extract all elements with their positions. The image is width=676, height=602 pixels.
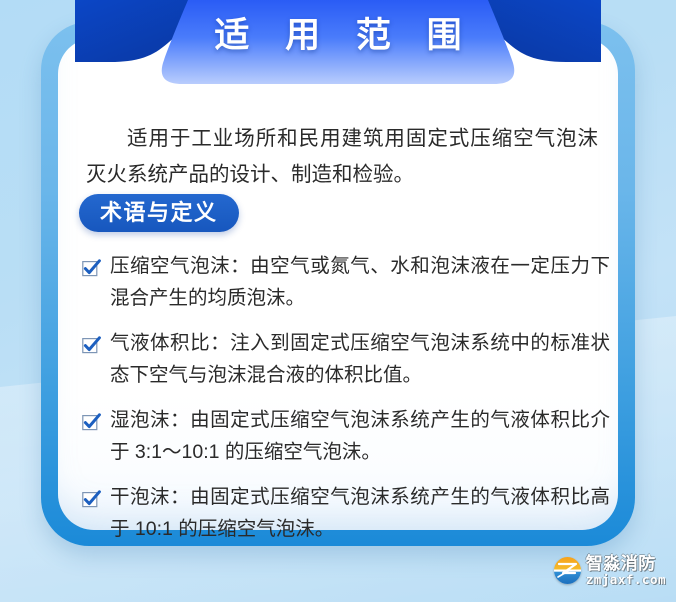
section-badge-terms: 术语与定义 xyxy=(79,194,239,232)
list-item: 湿泡沫：由固定式压缩空气泡沫系统产生的气液体积比介于 3:1～10:1 的压缩空… xyxy=(82,404,610,468)
definition-text: 湿泡沫：由固定式压缩空气泡沫系统产生的气液体积比介于 3:1～10:1 的压缩空… xyxy=(110,404,610,468)
zm-circle-logo-icon xyxy=(554,557,581,584)
checkbox-checked-icon xyxy=(82,256,101,275)
list-item: 气液体积比：注入到固定式压缩空气泡沫系统中的标准状态下空气与泡沫混合液的体积比值… xyxy=(82,327,610,391)
watermark-text: 智淼消防 zmjaxf.com xyxy=(586,555,666,587)
checkbox-checked-icon xyxy=(82,410,101,429)
watermark: 智淼消防 zmjaxf.com xyxy=(554,555,666,587)
definition-text: 干泡沫：由固定式压缩空气泡沫系统产生的气液体积比高于 10:1 的压缩空气泡沫。 xyxy=(110,481,610,545)
watermark-brand: 智淼消防 xyxy=(586,555,666,572)
checkbox-checked-icon xyxy=(82,487,101,506)
definition-text: 气液体积比：注入到固定式压缩空气泡沫系统中的标准状态下空气与泡沫混合液的体积比值… xyxy=(110,327,610,391)
checkbox-checked-icon xyxy=(82,333,101,352)
list-item: 干泡沫：由固定式压缩空气泡沫系统产生的气液体积比高于 10:1 的压缩空气泡沫。 xyxy=(82,481,610,545)
definition-list: 压缩空气泡沫：由空气或氮气、水和泡沫液在一定压力下混合产生的均质泡沫。 气液体积… xyxy=(82,250,610,558)
poster-page: 适 用 范 围 适用于工业场所和民用建筑用固定式压缩空气泡沫灭火系统产品的设计、… xyxy=(0,0,676,602)
watermark-url: zmjaxf.com xyxy=(586,574,666,587)
intro-paragraph: 适用于工业场所和民用建筑用固定式压缩空气泡沫灭火系统产品的设计、制造和检验。 xyxy=(86,121,598,193)
list-item: 压缩空气泡沫：由空气或氮气、水和泡沫液在一定压力下混合产生的均质泡沫。 xyxy=(82,250,610,314)
definition-text: 压缩空气泡沫：由空气或氮气、水和泡沫液在一定压力下混合产生的均质泡沫。 xyxy=(110,250,610,314)
